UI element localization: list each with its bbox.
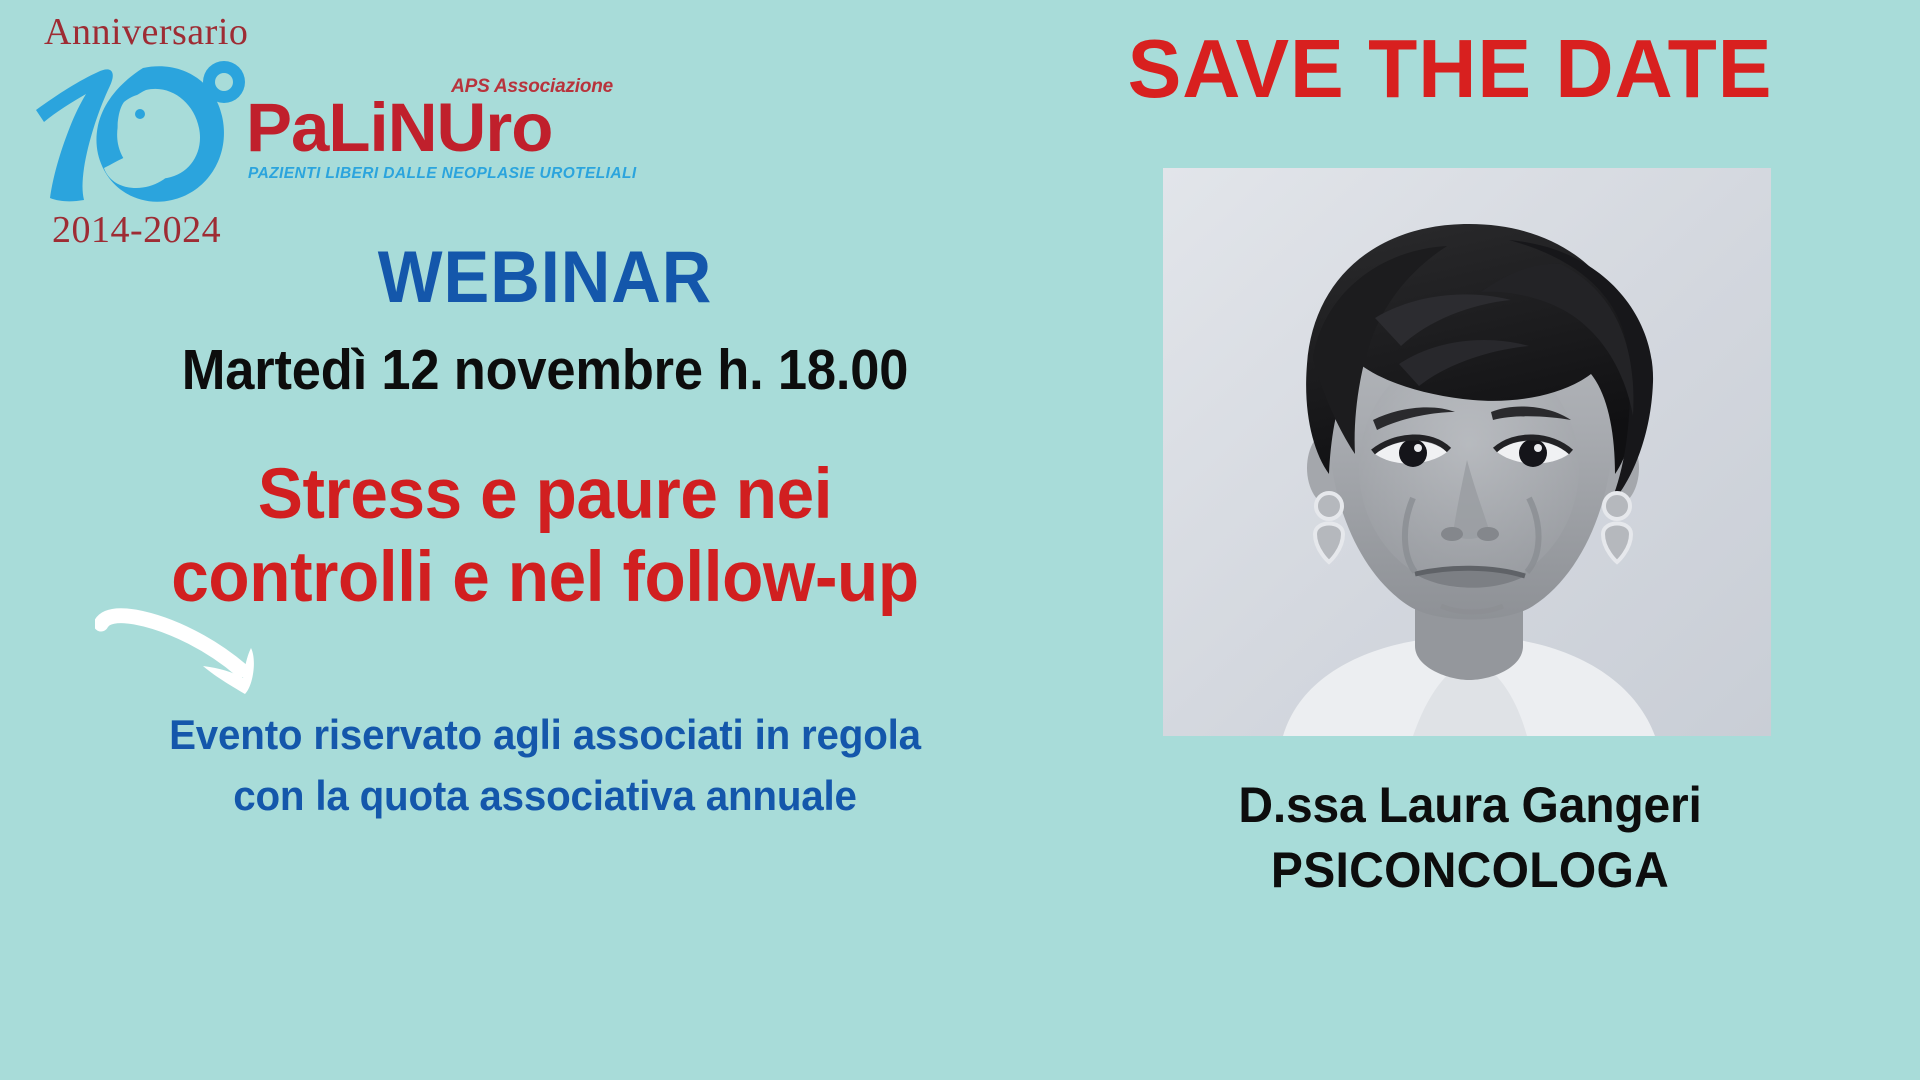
palinuro-logo-block: Anniversario 2014-2024 APS Associazione [18, 4, 618, 254]
speaker-role: PSICONCOLOGA [1134, 840, 1806, 901]
talk-title: Stress e paure nei controlli e nel follo… [27, 454, 1063, 619]
webinar-label: WEBINAR [33, 240, 1058, 317]
save-the-date-headline: SAVE THE DATE [1111, 27, 1790, 110]
speaker-name: D.ssa Laura Gangeri [1134, 775, 1806, 836]
anniversary-10-bird-icon [28, 50, 253, 210]
membership-notice: Evento riservato agli associati in regol… [22, 705, 1068, 827]
talk-title-line-2: controlli e nel follow-up [27, 537, 1063, 619]
speaker-photo [1163, 168, 1771, 736]
brand-tagline: PAZIENTI LIBERI DALLE NEOPLASIE UROTELIA… [248, 165, 637, 183]
membership-notice-line-2: con la quota associativa annuale [22, 766, 1068, 827]
event-details-column: WEBINAR Martedì 12 novembre h. 18.00 Str… [0, 240, 1090, 619]
brand-name: PaLiNUro [246, 93, 552, 162]
anniversary-label: Anniversario [44, 10, 248, 54]
membership-notice-line-1: Evento riservato agli associati in regol… [22, 705, 1068, 766]
event-poster: Anniversario 2014-2024 APS Associazione [0, 0, 1920, 1080]
brand-lockup: APS Associazione PaLiNUro PAZIENTI LIBER… [246, 76, 616, 186]
curved-arrow-down-right-icon [95, 608, 305, 708]
event-date-time: Martedì 12 novembre h. 18.00 [44, 341, 1047, 401]
talk-title-line-1: Stress e paure nei [27, 454, 1063, 536]
